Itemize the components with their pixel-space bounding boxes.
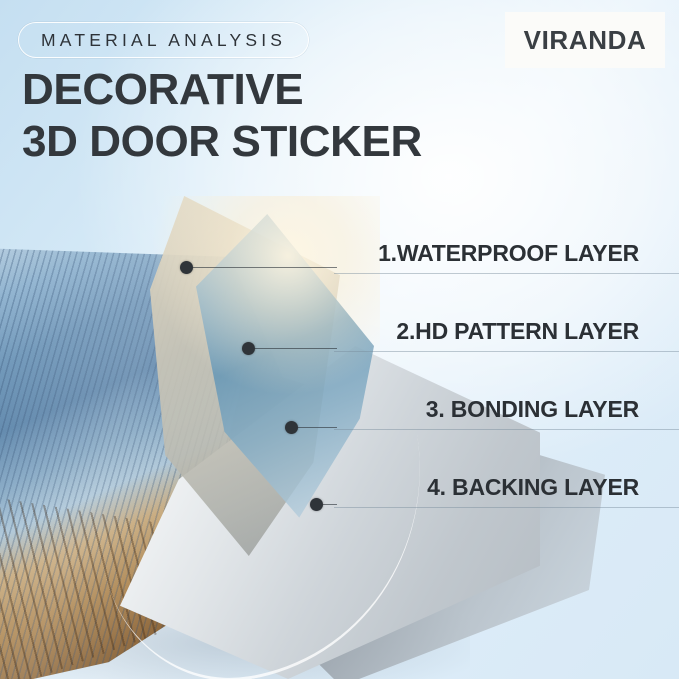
leader-line-2 — [254, 348, 337, 349]
page-title: DECORATIVE 3D DOOR STICKER — [22, 68, 422, 172]
infographic-canvas: MATERIAL ANALYSIS DECORATIVE 3D DOOR STI… — [0, 0, 679, 679]
layer-marker-dot-3 — [285, 421, 298, 434]
layer-label-2: 2.HD PATTERN LAYER — [334, 318, 679, 352]
layer-label-4: 4. BACKING LAYER — [334, 474, 679, 508]
title-line-1: DECORATIVE — [22, 68, 422, 112]
layer-label-1: 1.WATERPROOF LAYER — [334, 240, 679, 274]
material-analysis-badge: MATERIAL ANALYSIS — [18, 22, 309, 58]
layer-label-3: 3. BONDING LAYER — [334, 396, 679, 430]
layer-marker-dot-2 — [242, 342, 255, 355]
leader-line-3 — [297, 427, 337, 428]
title-line-2: 3D DOOR STICKER — [22, 120, 422, 164]
badge-label: MATERIAL ANALYSIS — [41, 30, 286, 51]
brand-logo: VIRANDA — [505, 12, 665, 68]
layer-marker-dot-4 — [310, 498, 323, 511]
leader-line-4 — [322, 504, 337, 505]
layer-marker-dot-1 — [180, 261, 193, 274]
leader-line-1 — [192, 267, 337, 268]
brand-name: VIRANDA — [524, 25, 647, 56]
